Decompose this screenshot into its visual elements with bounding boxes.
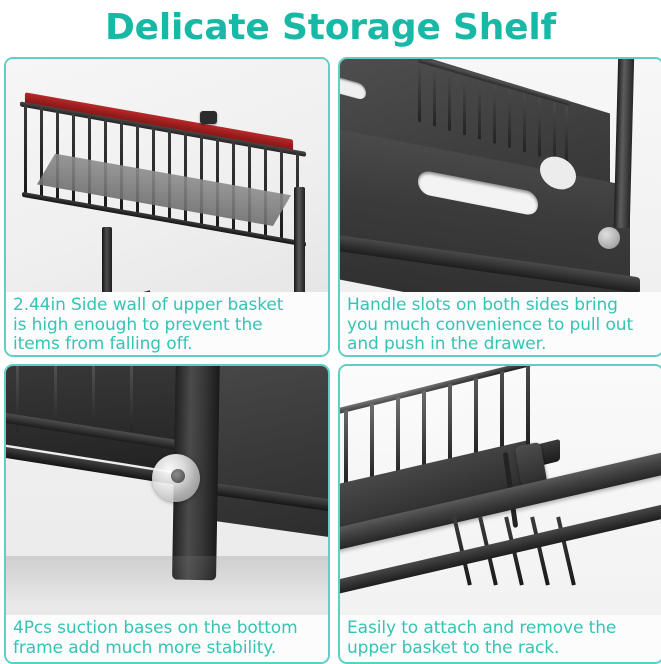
shelf-side-panel xyxy=(214,366,328,539)
vertical-post-left xyxy=(102,227,112,292)
vertical-post-right xyxy=(294,187,305,292)
feature-panel-grid: 2.44in Side wall of upper basket is high… xyxy=(4,57,657,657)
feature-panel-removable-basket: Easily to attach and remove the upper ba… xyxy=(338,364,661,664)
caption-line: 2.44in Side wall of upper basket xyxy=(13,296,321,316)
caption-line: items from falling off. xyxy=(13,335,321,355)
product-infographic: Delicate Storage Shelf xyxy=(0,0,661,661)
basket-clip-icon xyxy=(200,111,217,124)
product-photo-basket-attachment xyxy=(340,366,661,615)
product-photo-handle-slots xyxy=(340,59,661,292)
caption-line: is high enough to prevent the xyxy=(13,316,321,336)
page-title: Delicate Storage Shelf xyxy=(0,4,661,52)
panel-caption-removable-basket: Easily to attach and remove the upper ba… xyxy=(340,615,661,662)
panel-caption-handle-slots: Handle slots on both sides bring you muc… xyxy=(340,292,661,355)
photo-highlight xyxy=(340,366,510,476)
caption-line: Easily to attach and remove the xyxy=(347,619,655,639)
caption-line: 4Pcs suction bases on the bottom xyxy=(13,619,321,639)
panel-caption-suction-bases: 4Pcs suction bases on the bottom frame a… xyxy=(6,615,328,662)
suction-cup-icon xyxy=(152,454,200,502)
product-photo-upper-basket xyxy=(6,59,328,292)
feature-panel-handle-slots: Handle slots on both sides bring you muc… xyxy=(338,57,661,357)
caption-line: and push in the drawer. xyxy=(347,335,655,355)
product-photo-suction-base xyxy=(6,366,328,615)
caption-line: Handle slots on both sides bring xyxy=(347,296,655,316)
feature-panel-upper-basket-height: 2.44in Side wall of upper basket is high… xyxy=(4,57,330,357)
feature-panel-suction-bases: 4Pcs suction bases on the bottom frame a… xyxy=(4,364,330,664)
panel-caption-upper-basket: 2.44in Side wall of upper basket is high… xyxy=(6,292,328,355)
caption-line: you much convenience to pull out xyxy=(347,316,655,336)
frame-post-right xyxy=(614,59,635,228)
suction-foot-icon xyxy=(598,227,620,249)
floor-shadow xyxy=(6,556,328,606)
caption-line: upper basket to the rack. xyxy=(347,639,655,659)
caption-line: frame add much more stability. xyxy=(13,639,321,659)
